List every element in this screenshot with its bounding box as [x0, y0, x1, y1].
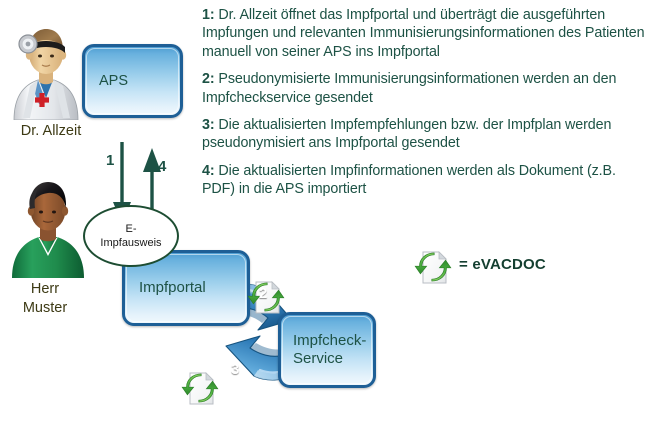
impfcheck-service-box-label: Impfcheck- Service — [281, 332, 366, 368]
step-text: Pseudonymisierte Immunisierungsinformati… — [202, 71, 616, 105]
cycle-step-3-label: 3 — [231, 361, 239, 378]
arrow-label-4: 4 — [158, 158, 166, 175]
process-step: 4: Die aktualisierten Impfinformationen … — [202, 162, 646, 199]
step-text: Dr. Allzeit öffnet das Impfportal und üb… — [202, 7, 644, 60]
document-sync-icon — [413, 247, 453, 287]
patient-name-label: Herr Muster — [0, 280, 90, 318]
patient-name-line2: Muster — [0, 299, 90, 318]
cycle-step-2-label: 2 — [259, 285, 267, 302]
impfportal-box-label: Impfportal — [125, 279, 206, 297]
e-impfausweis-line2: Impfausweis — [100, 236, 161, 250]
evacdoc-legend-label: = eVACDOC — [459, 256, 546, 273]
diagram-canvas: Dr. Allzeit APS 1 4 — [0, 0, 648, 435]
aps-box[interactable]: APS — [82, 44, 183, 118]
step-text: Die aktualisierten Impfempfehlungen bzw.… — [202, 117, 611, 151]
step-number: 4: — [202, 163, 215, 179]
process-step-list: 1: Dr. Allzeit öffnet das Impfportal und… — [202, 6, 646, 208]
step-text: Die aktualisierten Impfinformationen wer… — [202, 163, 616, 197]
arrow-label-1: 1 — [106, 152, 114, 169]
patient-avatar-icon — [8, 168, 86, 278]
e-impfausweis-bubble[interactable]: E- Impfausweis — [83, 205, 179, 267]
document-sync-icon — [180, 368, 220, 408]
doctor-name-label: Dr. Allzeit — [0, 122, 102, 141]
process-step: 1: Dr. Allzeit öffnet das Impfportal und… — [202, 6, 646, 61]
step-number: 3: — [202, 117, 215, 133]
process-step: 3: Die aktualisierten Impfempfehlungen b… — [202, 116, 646, 153]
impfcheck-label-line1: Impfcheck- — [293, 332, 366, 349]
impfcheck-label-line2: Service — [293, 350, 343, 367]
step-number: 2: — [202, 71, 215, 87]
aps-box-label: APS — [85, 72, 128, 90]
doctor-avatar-icon — [8, 14, 82, 120]
impfcheck-service-box[interactable]: Impfcheck- Service — [278, 312, 376, 388]
step-number: 1: — [202, 7, 215, 23]
e-impfausweis-line1: E- — [100, 222, 161, 236]
process-step: 2: Pseudonymisierte Immunisierungsinform… — [202, 70, 646, 107]
patient-name-line1: Herr — [0, 280, 90, 299]
